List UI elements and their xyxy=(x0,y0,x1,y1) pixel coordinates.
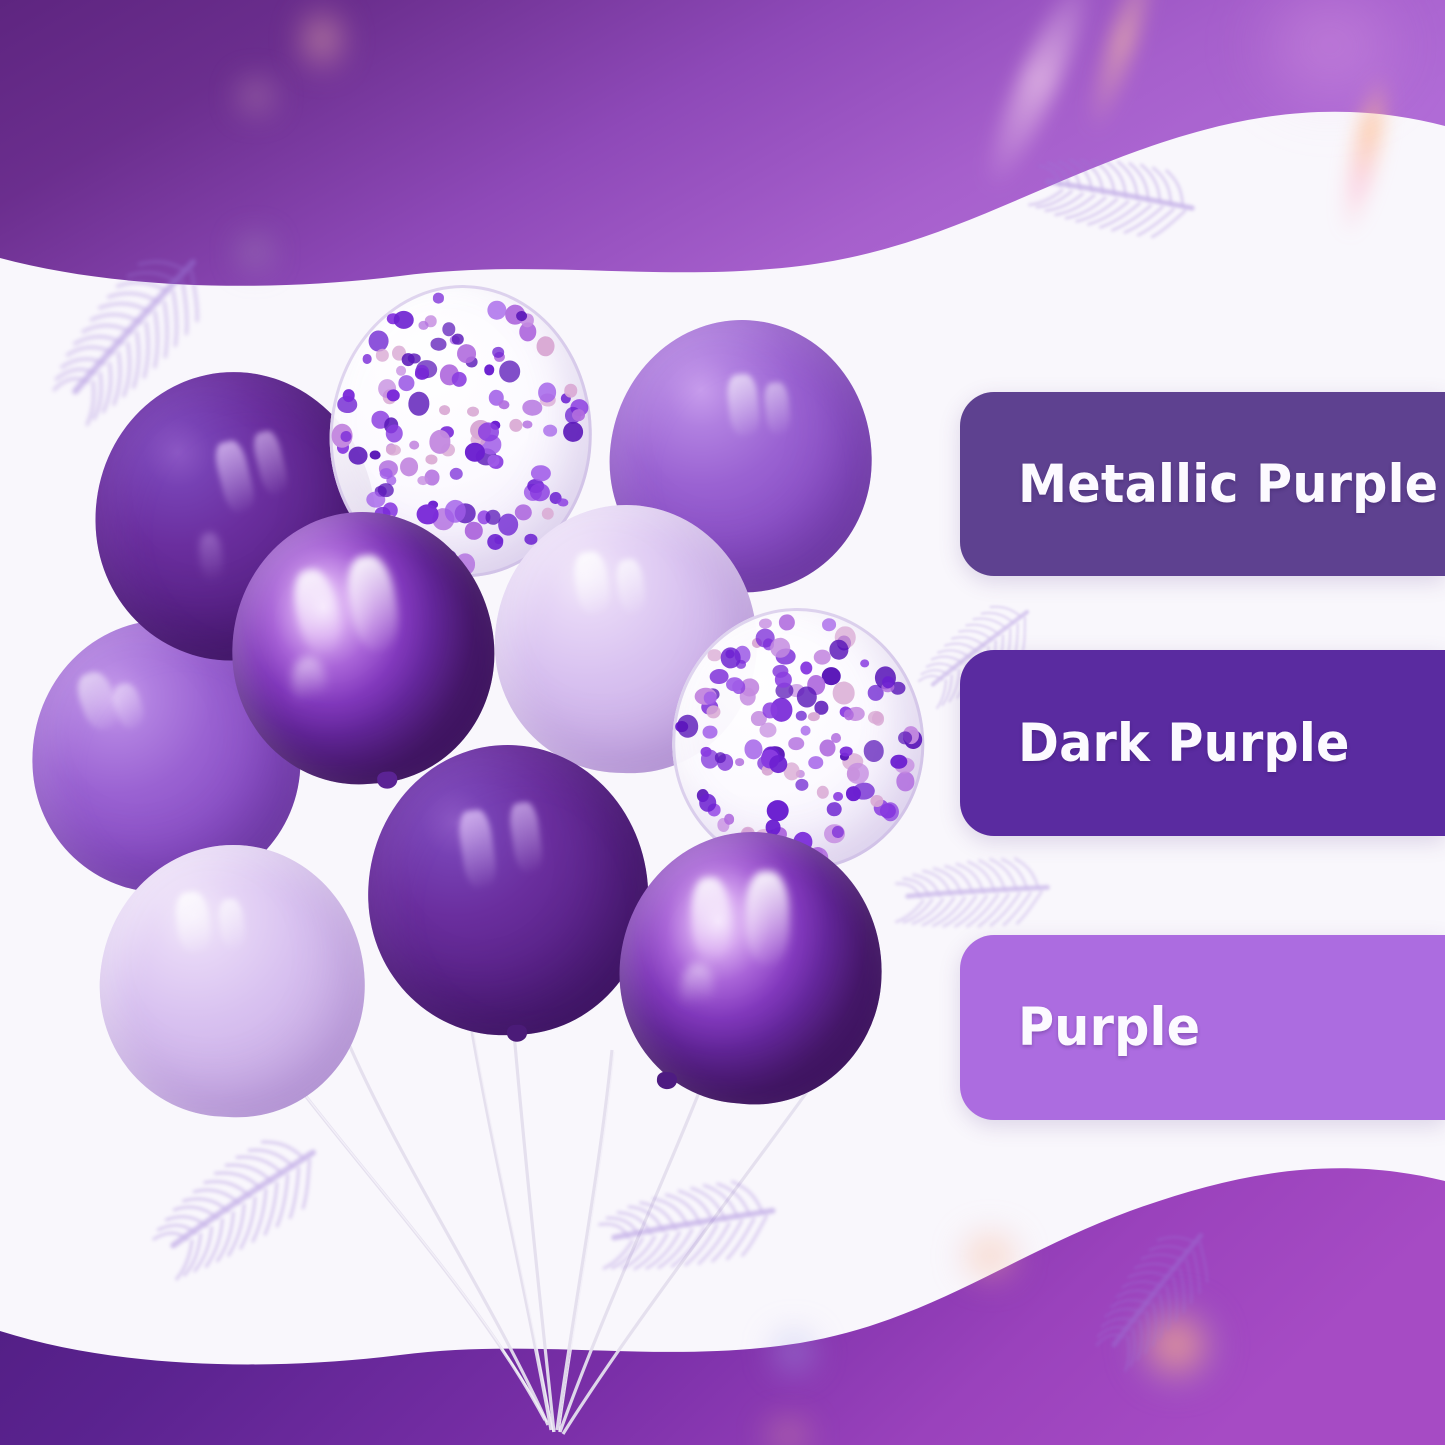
balloon-specular-1 xyxy=(289,566,346,658)
confetti-dot xyxy=(451,371,467,387)
confetti-dot xyxy=(846,763,869,784)
confetti-dot xyxy=(779,614,795,631)
balloon-highlight xyxy=(571,550,611,616)
confetti-dot xyxy=(409,440,419,449)
confetti-dot xyxy=(408,392,430,416)
confetti-dot xyxy=(515,504,533,521)
product-image-canvas: Metallic Purple Dark Purple Purple xyxy=(0,0,1445,1445)
confetti-dot xyxy=(724,814,734,825)
confetti-dot xyxy=(700,747,711,757)
confetti-dot xyxy=(465,522,483,540)
confetti-dot xyxy=(677,715,699,738)
balloon-specular-2 xyxy=(744,871,790,966)
balloon-specular-3 xyxy=(679,962,715,1017)
confetti-dot xyxy=(376,349,390,362)
confetti-dot xyxy=(714,752,726,763)
confetti-dot xyxy=(557,498,568,507)
confetti-dot xyxy=(449,468,463,481)
legend-label-purple: Purple xyxy=(1018,997,1200,1058)
confetti-dot xyxy=(348,446,368,465)
balloon-highlight-2 xyxy=(507,801,544,874)
balloon-highlight xyxy=(174,890,213,953)
confetti-dot xyxy=(487,300,507,320)
confetti-dot xyxy=(531,464,552,482)
confetti-dot xyxy=(702,725,717,739)
balloon-highlight xyxy=(211,438,258,515)
confetti-dot xyxy=(452,333,464,345)
confetti-dot xyxy=(845,785,861,801)
confetti-dot xyxy=(543,425,558,437)
legend-label-metallic-purple: Metallic Purple xyxy=(1018,454,1438,515)
confetti-dot xyxy=(735,758,745,766)
confetti-dot xyxy=(758,618,772,629)
confetti-dot xyxy=(386,444,401,456)
balloon-specular-1 xyxy=(690,876,732,962)
balloon-bouquet xyxy=(0,0,960,1445)
balloon-highlight-2 xyxy=(763,381,792,435)
legend-panel-purple[interactable]: Purple xyxy=(960,935,1445,1120)
confetti-dot xyxy=(393,310,414,329)
confetti-dot xyxy=(362,353,372,364)
confetti-dot xyxy=(529,483,550,502)
confetti-dot xyxy=(863,740,884,763)
balloon-highlight-2 xyxy=(110,680,148,732)
balloon-confetti-mid-right xyxy=(665,602,930,877)
confetti-dot xyxy=(826,802,841,817)
confetti-dot xyxy=(498,360,521,383)
confetti-dot xyxy=(509,418,524,432)
confetti-dot xyxy=(860,659,870,668)
confetti-dots xyxy=(665,602,930,877)
confetti-dot xyxy=(795,779,809,792)
balloon-highlight-2 xyxy=(217,898,247,951)
confetti-dot xyxy=(563,422,584,443)
confetti-dot xyxy=(386,389,400,402)
confetti-dot xyxy=(800,661,813,675)
confetti-dot xyxy=(840,746,853,757)
confetti-dot xyxy=(430,338,447,351)
balloon-highlight-2 xyxy=(250,429,291,497)
confetti-dot xyxy=(762,702,777,718)
confetti-dot xyxy=(828,639,848,660)
confetti-dot xyxy=(706,705,721,719)
balloon-highlight xyxy=(456,808,499,890)
confetti-dot xyxy=(385,424,403,443)
confetti-dot xyxy=(477,422,499,441)
confetti-dot xyxy=(564,384,578,398)
confetti-dot xyxy=(895,771,915,792)
balloon-highlight xyxy=(72,668,123,734)
confetti-dot xyxy=(426,454,438,464)
confetti-dot xyxy=(369,450,380,460)
confetti-dot xyxy=(808,712,820,722)
confetti-dot xyxy=(795,711,807,721)
confetti-dot xyxy=(536,336,555,357)
confetti-dot xyxy=(400,457,419,477)
confetti-dot xyxy=(801,725,811,736)
confetti-dot xyxy=(498,400,510,410)
balloon-highlight-2 xyxy=(614,557,647,614)
confetti-dot xyxy=(788,737,804,751)
legend-label-dark-purple: Dark Purple xyxy=(1018,713,1350,774)
confetti-dot xyxy=(572,409,585,422)
balloon-highlight-3 xyxy=(198,532,225,582)
confetti-dot xyxy=(398,375,415,392)
confetti-dot xyxy=(832,681,855,704)
confetti-dot xyxy=(522,420,533,429)
confetti-dot xyxy=(417,476,428,485)
confetti-dot xyxy=(832,791,843,801)
legend-panel-dark-purple[interactable]: Dark Purple xyxy=(960,650,1445,836)
confetti-dot xyxy=(708,648,722,661)
confetti-dot xyxy=(808,756,824,769)
confetti-dot xyxy=(819,739,837,757)
balloon-specular-2 xyxy=(341,551,403,654)
confetti-dot xyxy=(541,507,554,520)
confetti-dot xyxy=(521,399,542,416)
confetti-dot xyxy=(486,533,503,550)
confetti-dot xyxy=(516,311,527,321)
confetti-dot xyxy=(439,404,451,415)
balloon-highlight xyxy=(726,373,762,438)
confetti-dot xyxy=(759,722,777,738)
confetti-dot xyxy=(484,364,494,375)
confetti-dot xyxy=(396,366,407,376)
balloon-specular-3 xyxy=(290,656,328,712)
legend-panel-metallic-purple[interactable]: Metallic Purple xyxy=(960,392,1445,576)
confetti-dot xyxy=(766,800,789,822)
confetti-dot xyxy=(816,785,829,799)
confetti-dot xyxy=(432,293,444,304)
confetti-dot xyxy=(821,618,836,631)
confetti-dot xyxy=(418,321,428,330)
confetti-dot xyxy=(467,406,479,417)
